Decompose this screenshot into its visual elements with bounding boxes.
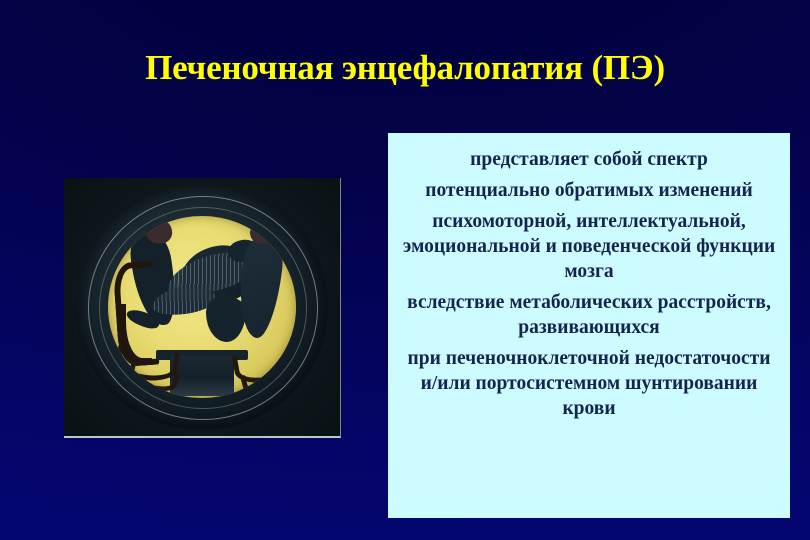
vase-painting [64,178,340,436]
page-title: Печеночная энцефалопатия (ПЭ) [0,48,810,88]
definition-paragraph-3: психомоторной, интеллектуальной, эмоцион… [402,209,776,284]
definition-textbox: представляет собой спектр потенциально о… [388,133,790,518]
slide: Печеночная энцефалопатия (ПЭ) [0,0,810,540]
definition-paragraph-1: представляет собой спектр [402,147,776,172]
figure-right-head [250,222,274,244]
illustration-image [64,178,341,438]
altar-column [170,356,234,396]
definition-paragraph-5: при печеночноклеточной недостаточости и/… [402,346,776,421]
eagle-legs [206,296,246,342]
definition-paragraph-4: вследствие метаболических расстройств, р… [402,290,776,340]
definition-paragraph-2: потенциально обратимых изменений [402,178,776,203]
tondo-field [108,216,296,398]
